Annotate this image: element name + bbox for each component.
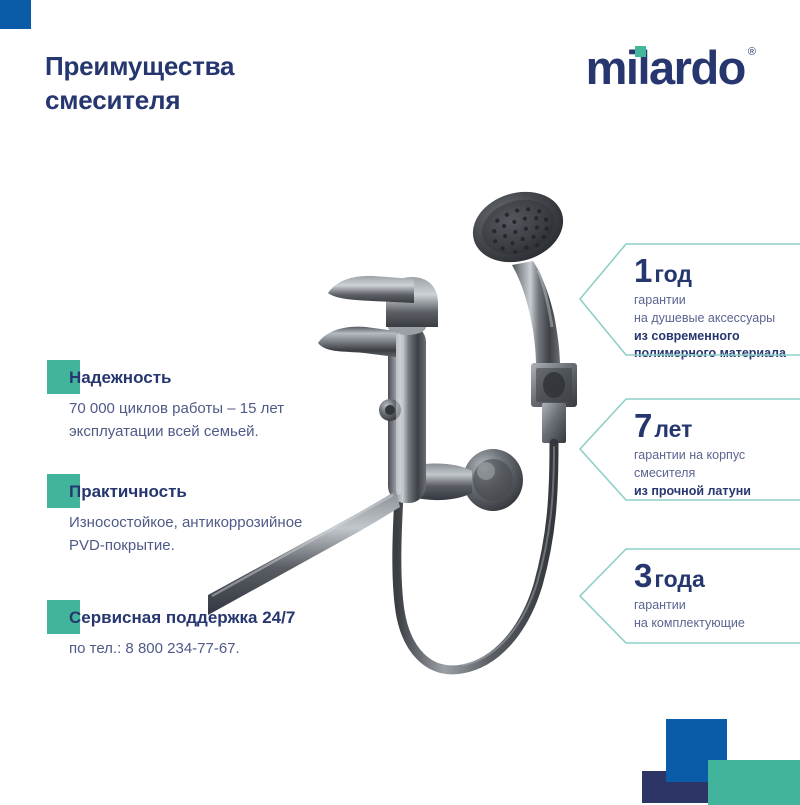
warranty-desc-line: гарантии [634, 292, 800, 310]
warranty-duration-number: 7 [634, 407, 651, 444]
warranty-duration-unit: лет [654, 416, 692, 442]
warranty-desc-line: смесителя [634, 465, 800, 483]
decor-square-bottom-teal [708, 760, 800, 805]
brand-logo-registered-mark: ® [748, 46, 756, 58]
product-shower-holder-bracket [531, 363, 577, 443]
warranty-duration-number: 1 [634, 252, 651, 289]
warranty-desc-line: полимерного материала [634, 345, 800, 363]
page-title-line-1: Преимущества [45, 50, 375, 84]
product-long-spout [208, 491, 400, 615]
page-title: Преимущества смесителя [45, 50, 375, 118]
warranty-desc-line: гарантии [634, 597, 800, 615]
brand-logo-wordmark: milardo [586, 44, 745, 91]
feature-heading-text: Практичность [69, 482, 187, 501]
feature-heading: Надежность [47, 364, 177, 391]
warranty-desc-line: из современного [634, 328, 800, 346]
warranty-duration-unit: года [654, 566, 704, 592]
warranty-desc-line: на комплектующие [634, 615, 800, 633]
page-title-line-2: смесителя [45, 84, 375, 118]
product-image-bath-mixer [200, 175, 620, 705]
warranty-duration: 7лет [634, 409, 800, 442]
warranty-duration: 3года [634, 559, 800, 592]
product-shower-head [464, 181, 572, 367]
warranty-desc-line: гарантии на корпус [634, 447, 800, 465]
brand-logo-teal-dot-icon [635, 46, 646, 57]
brand-logo: milardo ® [586, 44, 756, 91]
warranty-duration-unit: год [654, 261, 692, 287]
warranty-desc-line: на душевые аксессуары [634, 310, 800, 328]
feature-heading-text: Надежность [69, 368, 171, 387]
decor-square-top-left [0, 0, 31, 29]
warranty-duration-number: 3 [634, 557, 651, 594]
warranty-duration: 1год [634, 254, 800, 287]
product-mixer-body [318, 276, 472, 503]
warranty-desc-line: из прочной латуни [634, 483, 800, 501]
feature-heading: Практичность [47, 478, 193, 505]
